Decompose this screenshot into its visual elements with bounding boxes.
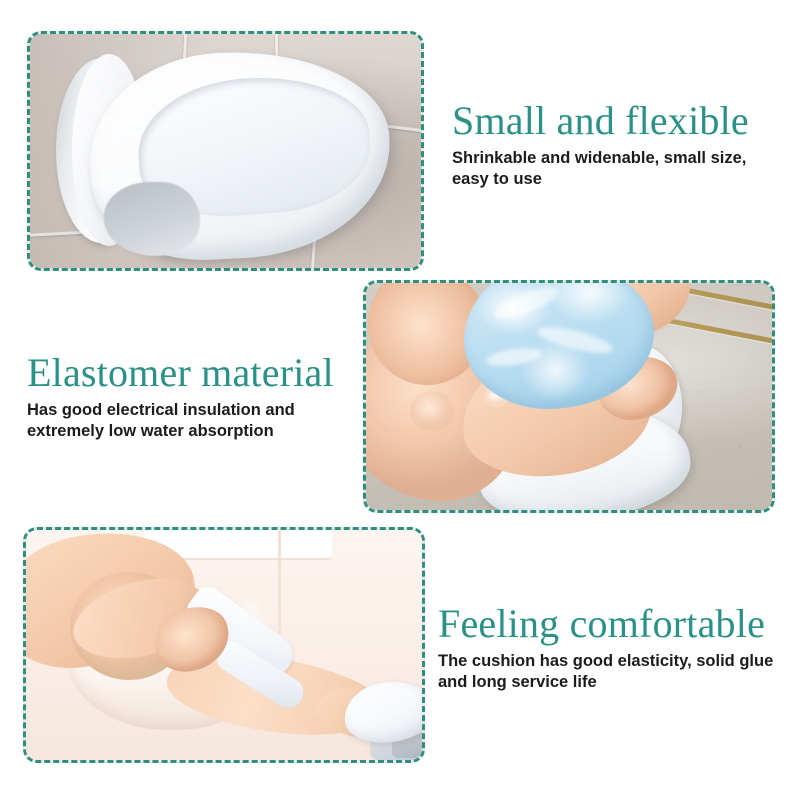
- feature-image-elastomer-material: [363, 280, 775, 513]
- feature-image-small-flexible: [27, 31, 424, 271]
- feature-image-feeling-comfortable: [23, 527, 425, 763]
- foot-rest-underside: [104, 182, 200, 256]
- photo-leg-wash: [26, 530, 422, 760]
- photo-side-view: [30, 34, 421, 268]
- feature-text-feeling-comfortable: Feeling comfortable The cushion has good…: [438, 603, 773, 692]
- feature-description: Shrinkable and widenable, small size, ea…: [452, 148, 749, 189]
- feature-title: Elastomer material: [27, 352, 334, 394]
- photo-foot-scrub: [366, 283, 772, 510]
- feature-description: Has good electrical insulation and extre…: [27, 400, 334, 441]
- feature-title: Small and flexible: [452, 100, 749, 142]
- product-infographic: Small and flexible Shrinkable and widena…: [0, 0, 800, 800]
- feature-description: The cushion has good elasticity, solid g…: [438, 651, 773, 692]
- feature-title: Feeling comfortable: [438, 603, 773, 645]
- feature-text-small-flexible: Small and flexible Shrinkable and widena…: [452, 100, 749, 189]
- feature-text-elastomer-material: Elastomer material Has good electrical i…: [27, 352, 334, 441]
- ankle-bone-highlight: [410, 391, 454, 431]
